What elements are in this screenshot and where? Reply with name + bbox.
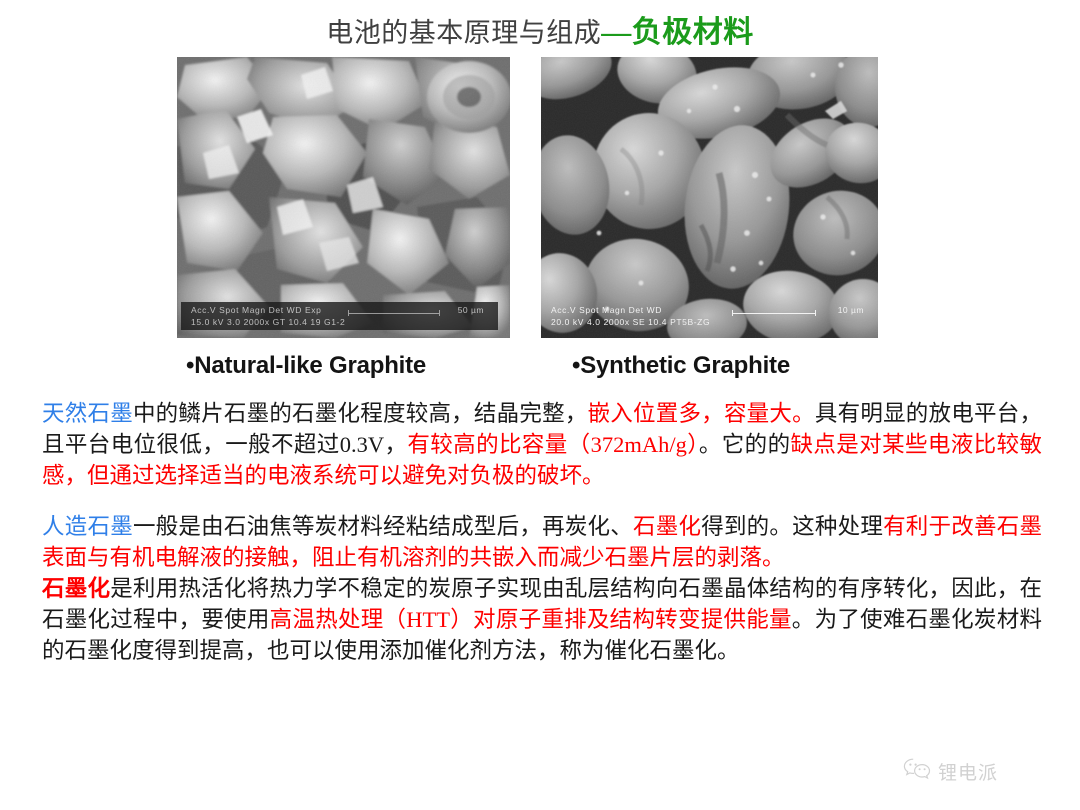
caption-natural-graphite: •Natural-like Graphite xyxy=(186,352,426,380)
body-paragraph: 人造石墨一般是由石油焦等炭材料经粘结成型后，再炭化、石墨化得到的。这种处理有利于… xyxy=(42,511,1042,573)
body-paragraph: 石墨化是利用热活化将热力学不稳定的炭原子实现由乱层结构向石墨晶体结构的有序转化，… xyxy=(42,573,1042,666)
text-run: 有较高的比容量（372mAh/g） xyxy=(407,432,699,457)
sem-left-graphic xyxy=(177,57,510,338)
text-run: 石墨化 xyxy=(42,576,110,601)
page-title-main: 电池的基本原理与组成 xyxy=(326,18,601,48)
text-run: 人造石墨 xyxy=(42,514,133,539)
text-run: 中的鳞片石墨的石墨化程度较高，结晶完整， xyxy=(133,401,588,426)
watermark: 锂电派 xyxy=(902,757,998,786)
text-run: 嵌入位置多，容量大。 xyxy=(588,401,815,426)
page-title-accent: —负极材料 xyxy=(601,16,754,49)
wechat-icon xyxy=(902,757,932,786)
body-text: 天然石墨中的鳞片石墨的石墨化程度较高，结晶完整，嵌入位置多，容量大。具有明显的放… xyxy=(42,398,1042,666)
body-paragraph: 天然石墨中的鳞片石墨的石墨化程度较高，结晶完整，嵌入位置多，容量大。具有明显的放… xyxy=(42,398,1042,491)
watermark-label: 锂电派 xyxy=(938,758,998,785)
page-title: 电池的基本原理与组成—负极材料 xyxy=(0,16,1080,49)
text-run: 。它的的 xyxy=(699,432,791,457)
sem-image-synthetic-graphite: Acc.V Spot Magn Det WD 20.0 kV 4.0 2000x… xyxy=(541,57,878,338)
text-run: 一般是由石油焦等炭材料经粘结成型后，再炭化、 xyxy=(133,514,633,539)
caption-synthetic-graphite: •Synthetic Graphite xyxy=(572,352,790,380)
wechat-icon-svg xyxy=(902,757,932,781)
text-run: 得到的。这种处理 xyxy=(701,514,883,539)
text-run: 天然石墨 xyxy=(42,401,133,426)
sem-right-graphic xyxy=(541,57,878,338)
text-run: 高温热处理（HTT）对原子重排及结构转变提供能量 xyxy=(270,607,792,632)
sem-image-natural-graphite: Acc.V Spot Magn Det WD Exp 15.0 kV 3.0 2… xyxy=(177,57,510,338)
text-run: 石墨化 xyxy=(633,514,701,539)
